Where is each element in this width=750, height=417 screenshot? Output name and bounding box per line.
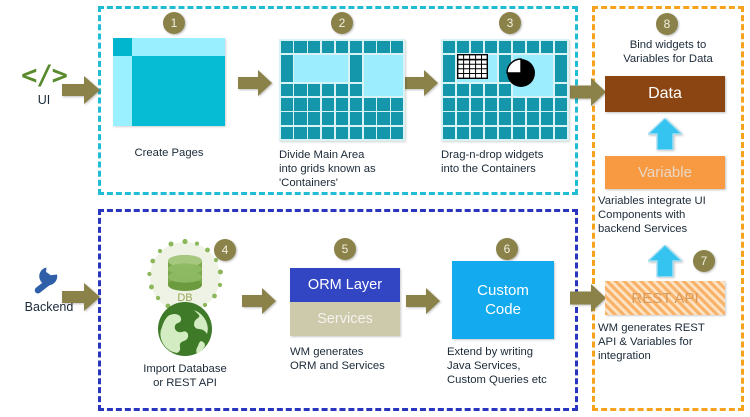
data-box-label: Data — [648, 85, 682, 103]
grid-cell — [391, 112, 403, 125]
step-3-caption: Drag-n-drop widgets into the Containers — [441, 148, 581, 176]
arrow-step4-to-step5 — [242, 288, 276, 314]
grid-cell — [322, 84, 334, 97]
services-label: Services — [290, 302, 400, 336]
step-3-caption-line2: into the Containers — [441, 162, 581, 176]
grid-cell — [555, 98, 567, 111]
arrow-step6-to-restapi — [570, 284, 606, 312]
step-1-caption: Create Pages — [113, 146, 225, 160]
arrow-step3-to-data — [570, 78, 606, 106]
grid-cell — [322, 41, 334, 54]
grid-cell — [485, 112, 497, 125]
arrow-step1-to-step2 — [238, 70, 272, 96]
variable-caption: Variables integrate UI Components with b… — [598, 194, 740, 236]
page-layout-mockup — [113, 38, 225, 126]
grid-cell — [322, 112, 334, 125]
grid-cell — [499, 127, 511, 140]
grid-cell — [527, 41, 539, 54]
grid-cell — [471, 41, 483, 54]
grid-cell — [457, 127, 469, 140]
data-box: Data — [605, 76, 725, 112]
grid-cell — [457, 41, 469, 54]
step-7-caption-line2: API & Variables for — [598, 335, 740, 349]
grid-cell — [457, 112, 469, 125]
step-7-caption-line1: WM generates REST — [598, 321, 740, 335]
step-8-caption-line1: Bind widgets to — [600, 38, 736, 52]
grid-cell — [499, 41, 511, 54]
arrow-variable-to-data — [648, 118, 682, 150]
custom-code-line1: Custom — [477, 281, 529, 300]
grid-cell — [513, 41, 525, 54]
step-4-caption: Import Database or REST API — [120, 362, 250, 390]
arrow-ui-to-step1 — [62, 76, 100, 104]
step-6-caption: Extend by writing Java Services, Custom … — [447, 345, 587, 387]
grid-cell — [294, 41, 306, 54]
grid-cell — [294, 127, 306, 140]
grid-cell — [281, 41, 293, 54]
grid-cell — [377, 41, 389, 54]
grid-cell — [513, 112, 525, 125]
step-7-caption: WM generates REST API & Variables for in… — [598, 321, 740, 363]
grid-cell — [364, 41, 376, 54]
grid-cell — [322, 98, 334, 111]
grid-cell — [336, 98, 348, 111]
step-2-caption-line2: into grids known as — [279, 162, 414, 176]
diagram-canvas: </> UI Backend — [0, 0, 750, 417]
step-2-caption: Divide Main Area into grids known as 'Co… — [279, 148, 414, 190]
grid-cell — [513, 127, 525, 140]
rest-api-box: REST API — [605, 281, 725, 315]
grid-cell — [308, 98, 320, 111]
grid-cell — [555, 127, 567, 140]
grid-cell — [541, 127, 553, 140]
pie-chart-widget-icon — [506, 58, 536, 93]
variable-caption-line3: backend Services — [598, 222, 740, 236]
custom-code-box: Custom Code — [452, 261, 554, 339]
step-8-caption: Bind widgets to Variables for Data — [600, 38, 736, 66]
grid-cell — [443, 84, 455, 97]
grid-cell — [527, 98, 539, 111]
grid-cell — [336, 84, 348, 97]
step-5-caption-line2: ORM and Services — [290, 359, 420, 373]
grid-cell — [457, 84, 469, 97]
grid-cell — [485, 84, 497, 97]
grid-cell — [377, 112, 389, 125]
grid-cell — [350, 112, 362, 125]
grid-cell — [364, 112, 376, 125]
grid-cell — [485, 41, 497, 54]
variable-box: Variable — [605, 156, 725, 189]
grid-cell — [499, 112, 511, 125]
step-badge-3: 3 — [499, 12, 521, 34]
grid-cell — [350, 127, 362, 140]
step-6-caption-line2: Java Services, — [447, 359, 587, 373]
step-badge-2: 2 — [331, 12, 353, 34]
grid-cell — [541, 41, 553, 54]
step-badge-7: 7 — [693, 250, 715, 272]
grid-cell — [471, 112, 483, 125]
step-8-caption-line2: Variables for Data — [600, 52, 736, 66]
custom-code-line2: Code — [477, 300, 529, 319]
step-3-caption-line1: Drag-n-drop widgets — [441, 148, 581, 162]
grid-cell — [391, 98, 403, 111]
grid-cell — [555, 112, 567, 125]
grid-cell — [308, 41, 320, 54]
variable-box-label: Variable — [638, 164, 692, 181]
grid-cell — [527, 127, 539, 140]
grid-cell — [471, 84, 483, 97]
mockup-corner — [113, 38, 132, 56]
grid-cell — [471, 127, 483, 140]
step-badge-5: 5 — [334, 238, 356, 260]
orm-layer-label: ORM Layer — [290, 268, 400, 302]
table-widget-icon — [457, 54, 488, 84]
mockup-header-bar — [132, 38, 225, 56]
step-4-caption-line1: Import Database — [120, 362, 250, 376]
grid-cell — [350, 55, 362, 82]
step-1-caption-line1: Create Pages — [113, 146, 225, 160]
container-grid-mockup — [279, 39, 405, 141]
grid-cell — [443, 41, 455, 54]
mockup-main-area — [132, 56, 225, 126]
step-2-caption-line1: Divide Main Area — [279, 148, 414, 162]
grid-cell — [308, 112, 320, 125]
grid-cell — [555, 55, 567, 82]
custom-code-label: Custom Code — [477, 281, 529, 319]
grid-cell — [471, 98, 483, 111]
grid-cell — [308, 127, 320, 140]
grid-cell — [391, 127, 403, 140]
variable-caption-line2: Components with — [598, 208, 740, 222]
grid-cell — [281, 84, 293, 97]
grid-cell — [350, 98, 362, 111]
variable-caption-line1: Variables integrate UI — [598, 194, 740, 208]
grid-cell — [527, 112, 539, 125]
rest-api-label: REST API — [631, 290, 698, 307]
grid-cell — [364, 127, 376, 140]
grid-cell — [281, 98, 293, 111]
step-badge-1: 1 — [163, 12, 185, 34]
step-6-caption-line3: Custom Queries etc — [447, 373, 587, 387]
mockup-sidebar — [113, 56, 132, 126]
container-region — [294, 55, 348, 82]
step-5-caption: WM generates ORM and Services — [290, 345, 420, 373]
grid-cell — [541, 112, 553, 125]
grid-cell — [281, 127, 293, 140]
orm-layer-band: ORM Layer — [290, 268, 400, 302]
grid-cell — [294, 98, 306, 111]
grid-cell — [443, 127, 455, 140]
arrow-restapi-to-variable — [648, 245, 682, 277]
grid-cell — [443, 112, 455, 125]
globe-icon — [156, 300, 214, 358]
grid-cell — [485, 98, 497, 111]
grid-cell — [281, 112, 293, 125]
step-2-caption-line3: 'Containers' — [279, 176, 414, 190]
grid-cell — [336, 127, 348, 140]
step-7-caption-line3: integration — [598, 349, 740, 363]
orm-services-box: ORM Layer Services — [290, 268, 400, 336]
services-band: Services — [290, 302, 400, 336]
step-5-caption-line1: WM generates — [290, 345, 420, 359]
grid-cell — [308, 84, 320, 97]
grid-cell — [443, 55, 455, 82]
grid-cell — [377, 127, 389, 140]
grid-cell — [377, 98, 389, 111]
grid-cell — [281, 55, 293, 82]
grid-cell — [443, 98, 455, 111]
step-badge-8: 8 — [656, 13, 678, 35]
grid-cell — [513, 98, 525, 111]
arrow-step5-to-step6 — [406, 288, 440, 314]
grid-cell — [485, 127, 497, 140]
step-badge-6: 6 — [496, 238, 518, 260]
grid-cell — [336, 112, 348, 125]
grid-cell — [336, 41, 348, 54]
grid-cell — [499, 98, 511, 111]
container-region — [364, 55, 404, 96]
step-6-caption-line1: Extend by writing — [447, 345, 587, 359]
step-4-caption-line2: or REST API — [120, 376, 250, 390]
grid-cell — [364, 98, 376, 111]
arrow-step2-to-step3 — [404, 70, 438, 96]
grid-cell — [350, 84, 362, 97]
grid-cell — [294, 84, 306, 97]
grid-cell — [457, 98, 469, 111]
grid-cell — [350, 41, 362, 54]
arrow-backend-to-step4 — [62, 283, 100, 311]
grid-cell — [555, 84, 567, 97]
grid-cell — [322, 127, 334, 140]
grid-cell — [294, 112, 306, 125]
grid-cell — [391, 41, 403, 54]
grid-cell — [555, 41, 567, 54]
grid-cell — [541, 98, 553, 111]
